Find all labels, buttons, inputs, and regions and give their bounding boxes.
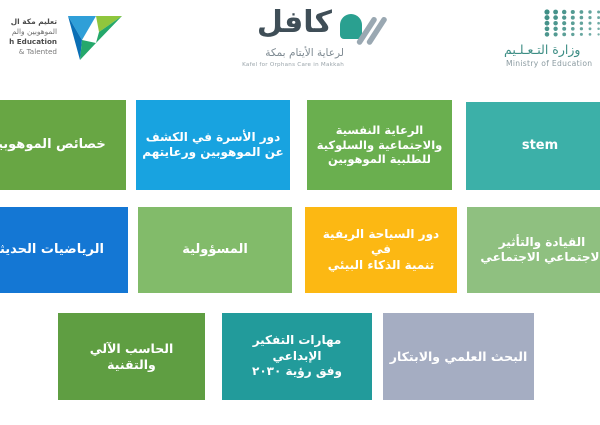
- kafel-english-tagline: Kafel for Orphans Care in Makkah: [242, 62, 344, 68]
- tile-modern-mathematics[interactable]: الرياضيات الحديثة: [0, 207, 128, 293]
- ministry-of-education-logo: وزارة التـعـلـيم Ministry of Education: [496, 8, 600, 74]
- kafel-orphans-care-makkah-logo: كافل لرعاية الأيتام بمكة Kafel for Orpha…: [222, 5, 390, 81]
- kafel-arabic-wordmark: كافل: [257, 5, 332, 41]
- tile-label: دور السياحة الريفية في تنمية الذكاء البي…: [311, 227, 451, 273]
- moe-dot-matrix-icon: [542, 8, 600, 38]
- tile-label: الحاسب الآلي والتقنية: [64, 341, 199, 373]
- tile-label: stem: [522, 138, 558, 155]
- tile-responsibility[interactable]: المسؤولية: [138, 207, 292, 293]
- left-logo-english-line1: h Education: [0, 37, 57, 47]
- tile-label: الرعاية النفسية والاجتماعية والسلوكية لل…: [317, 123, 443, 167]
- tile-label: مهارات التفكير الإبداعي وفق رؤية ٢٠٣٠: [228, 333, 366, 379]
- kafel-arabic-tagline: لرعاية الأيتام بمكة: [265, 47, 344, 59]
- moe-english-name: Ministry of Education: [506, 59, 592, 68]
- makkah-education-gifted-talented-logo: تعليم مكة ال الموهوبين والم h Education …: [0, 6, 124, 68]
- tile-gifted-characteristics[interactable]: خصائص الموهوبين: [0, 100, 126, 190]
- tile-label: دور الأسرة في الكشف عن الموهوبين ورعايته…: [142, 130, 283, 161]
- logo-header: تعليم مكة ال الموهوبين والم h Education …: [0, 0, 600, 88]
- tile-label: خصائص الموهوبين: [0, 137, 106, 154]
- moe-arabic-name: وزارة التـعـلـيم: [504, 42, 580, 57]
- kafel-shield-stripes-icon: [334, 9, 390, 49]
- left-logo-arabic-line1: تعليم مكة ال: [0, 17, 57, 27]
- tile-label: الرياضيات الحديثة: [0, 242, 104, 259]
- tile-psychological-social-behavioral-care[interactable]: الرعاية النفسية والاجتماعية والسلوكية لل…: [307, 100, 452, 190]
- tile-stem[interactable]: stem: [466, 102, 600, 190]
- kafel-wordmark-row: كافل: [222, 5, 390, 47]
- tile-scientific-research-innovation[interactable]: البحث العلمي والابتكار: [383, 313, 534, 400]
- left-logo-english-line2: & Talented: [0, 47, 57, 57]
- tile-family-role-discovery[interactable]: دور الأسرة في الكشف عن الموهوبين ورعايته…: [136, 100, 290, 190]
- tile-creative-thinking-vision-2030[interactable]: مهارات التفكير الإبداعي وفق رؤية ٢٠٣٠: [222, 313, 372, 400]
- tile-leadership-social-influence[interactable]: القيادة والتأثير الاجتماعي الاجتماعي: [467, 207, 600, 293]
- tile-computer-technology[interactable]: الحاسب الآلي والتقنية: [58, 313, 205, 400]
- left-logo-text: تعليم مكة ال الموهوبين والم h Education …: [0, 17, 60, 57]
- tile-rural-tourism-environmental-intelligence[interactable]: دور السياحة الريفية في تنمية الذكاء البي…: [305, 207, 457, 293]
- tile-label: المسؤولية: [182, 242, 248, 259]
- tile-label: البحث العلمي والابتكار: [390, 349, 528, 365]
- left-logo-arabic-line2: الموهوبين والم: [0, 27, 57, 37]
- tile-label: القيادة والتأثير الاجتماعي الاجتماعي: [480, 235, 600, 266]
- arrow-triangle-icon: [66, 10, 124, 64]
